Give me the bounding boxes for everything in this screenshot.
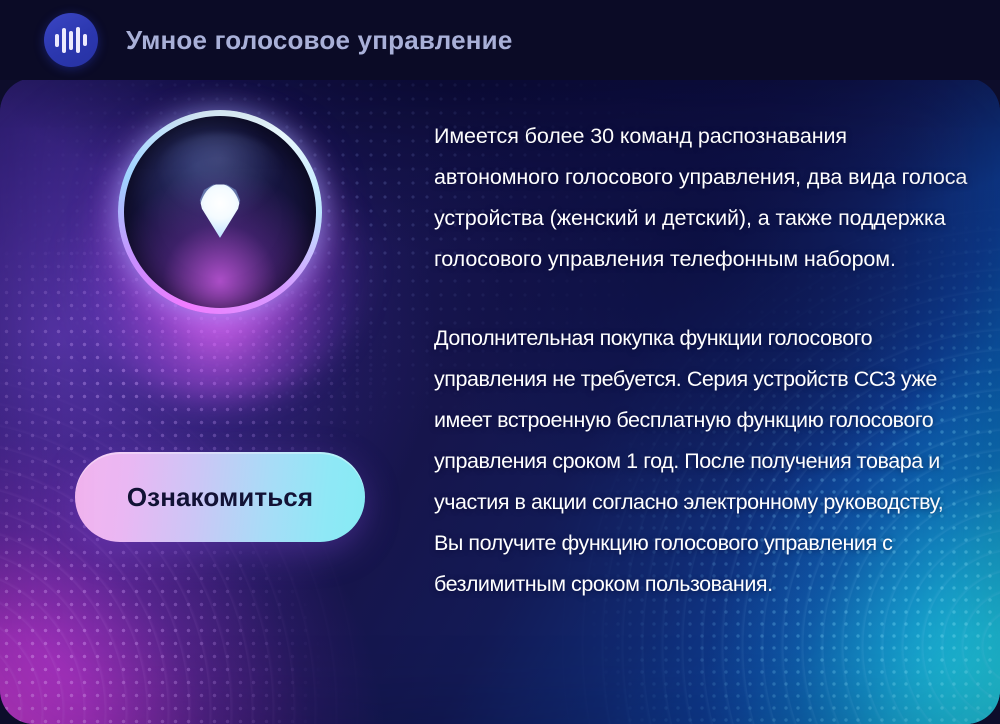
voice-pin-icon [199, 184, 241, 238]
page-title: Умное голосовое управление [126, 25, 513, 56]
waveform-bar-1 [55, 34, 59, 47]
promo-slide: Ознакомиться Имеется более 30 команд рас… [0, 0, 1000, 724]
paragraph-1: Имеется более 30 команд распознавания ав… [434, 116, 968, 280]
orb-core [124, 116, 316, 308]
header-bar: Умное голосовое управление [0, 0, 1000, 80]
waveform-bar-5 [83, 34, 87, 46]
voice-assistant-orb-icon [118, 110, 322, 314]
paragraph-2: Дополнительная покупка функции голосовог… [434, 318, 968, 605]
orb-ring [118, 110, 322, 314]
description-text: Имеется более 30 команд распознавания ав… [434, 116, 968, 605]
voice-waveform-icon [44, 13, 98, 67]
waveform-bar-2 [62, 28, 66, 53]
waveform-bar-4 [76, 27, 80, 53]
waveform-bar-3 [69, 31, 73, 50]
learn-more-button[interactable]: Ознакомиться [75, 452, 365, 542]
